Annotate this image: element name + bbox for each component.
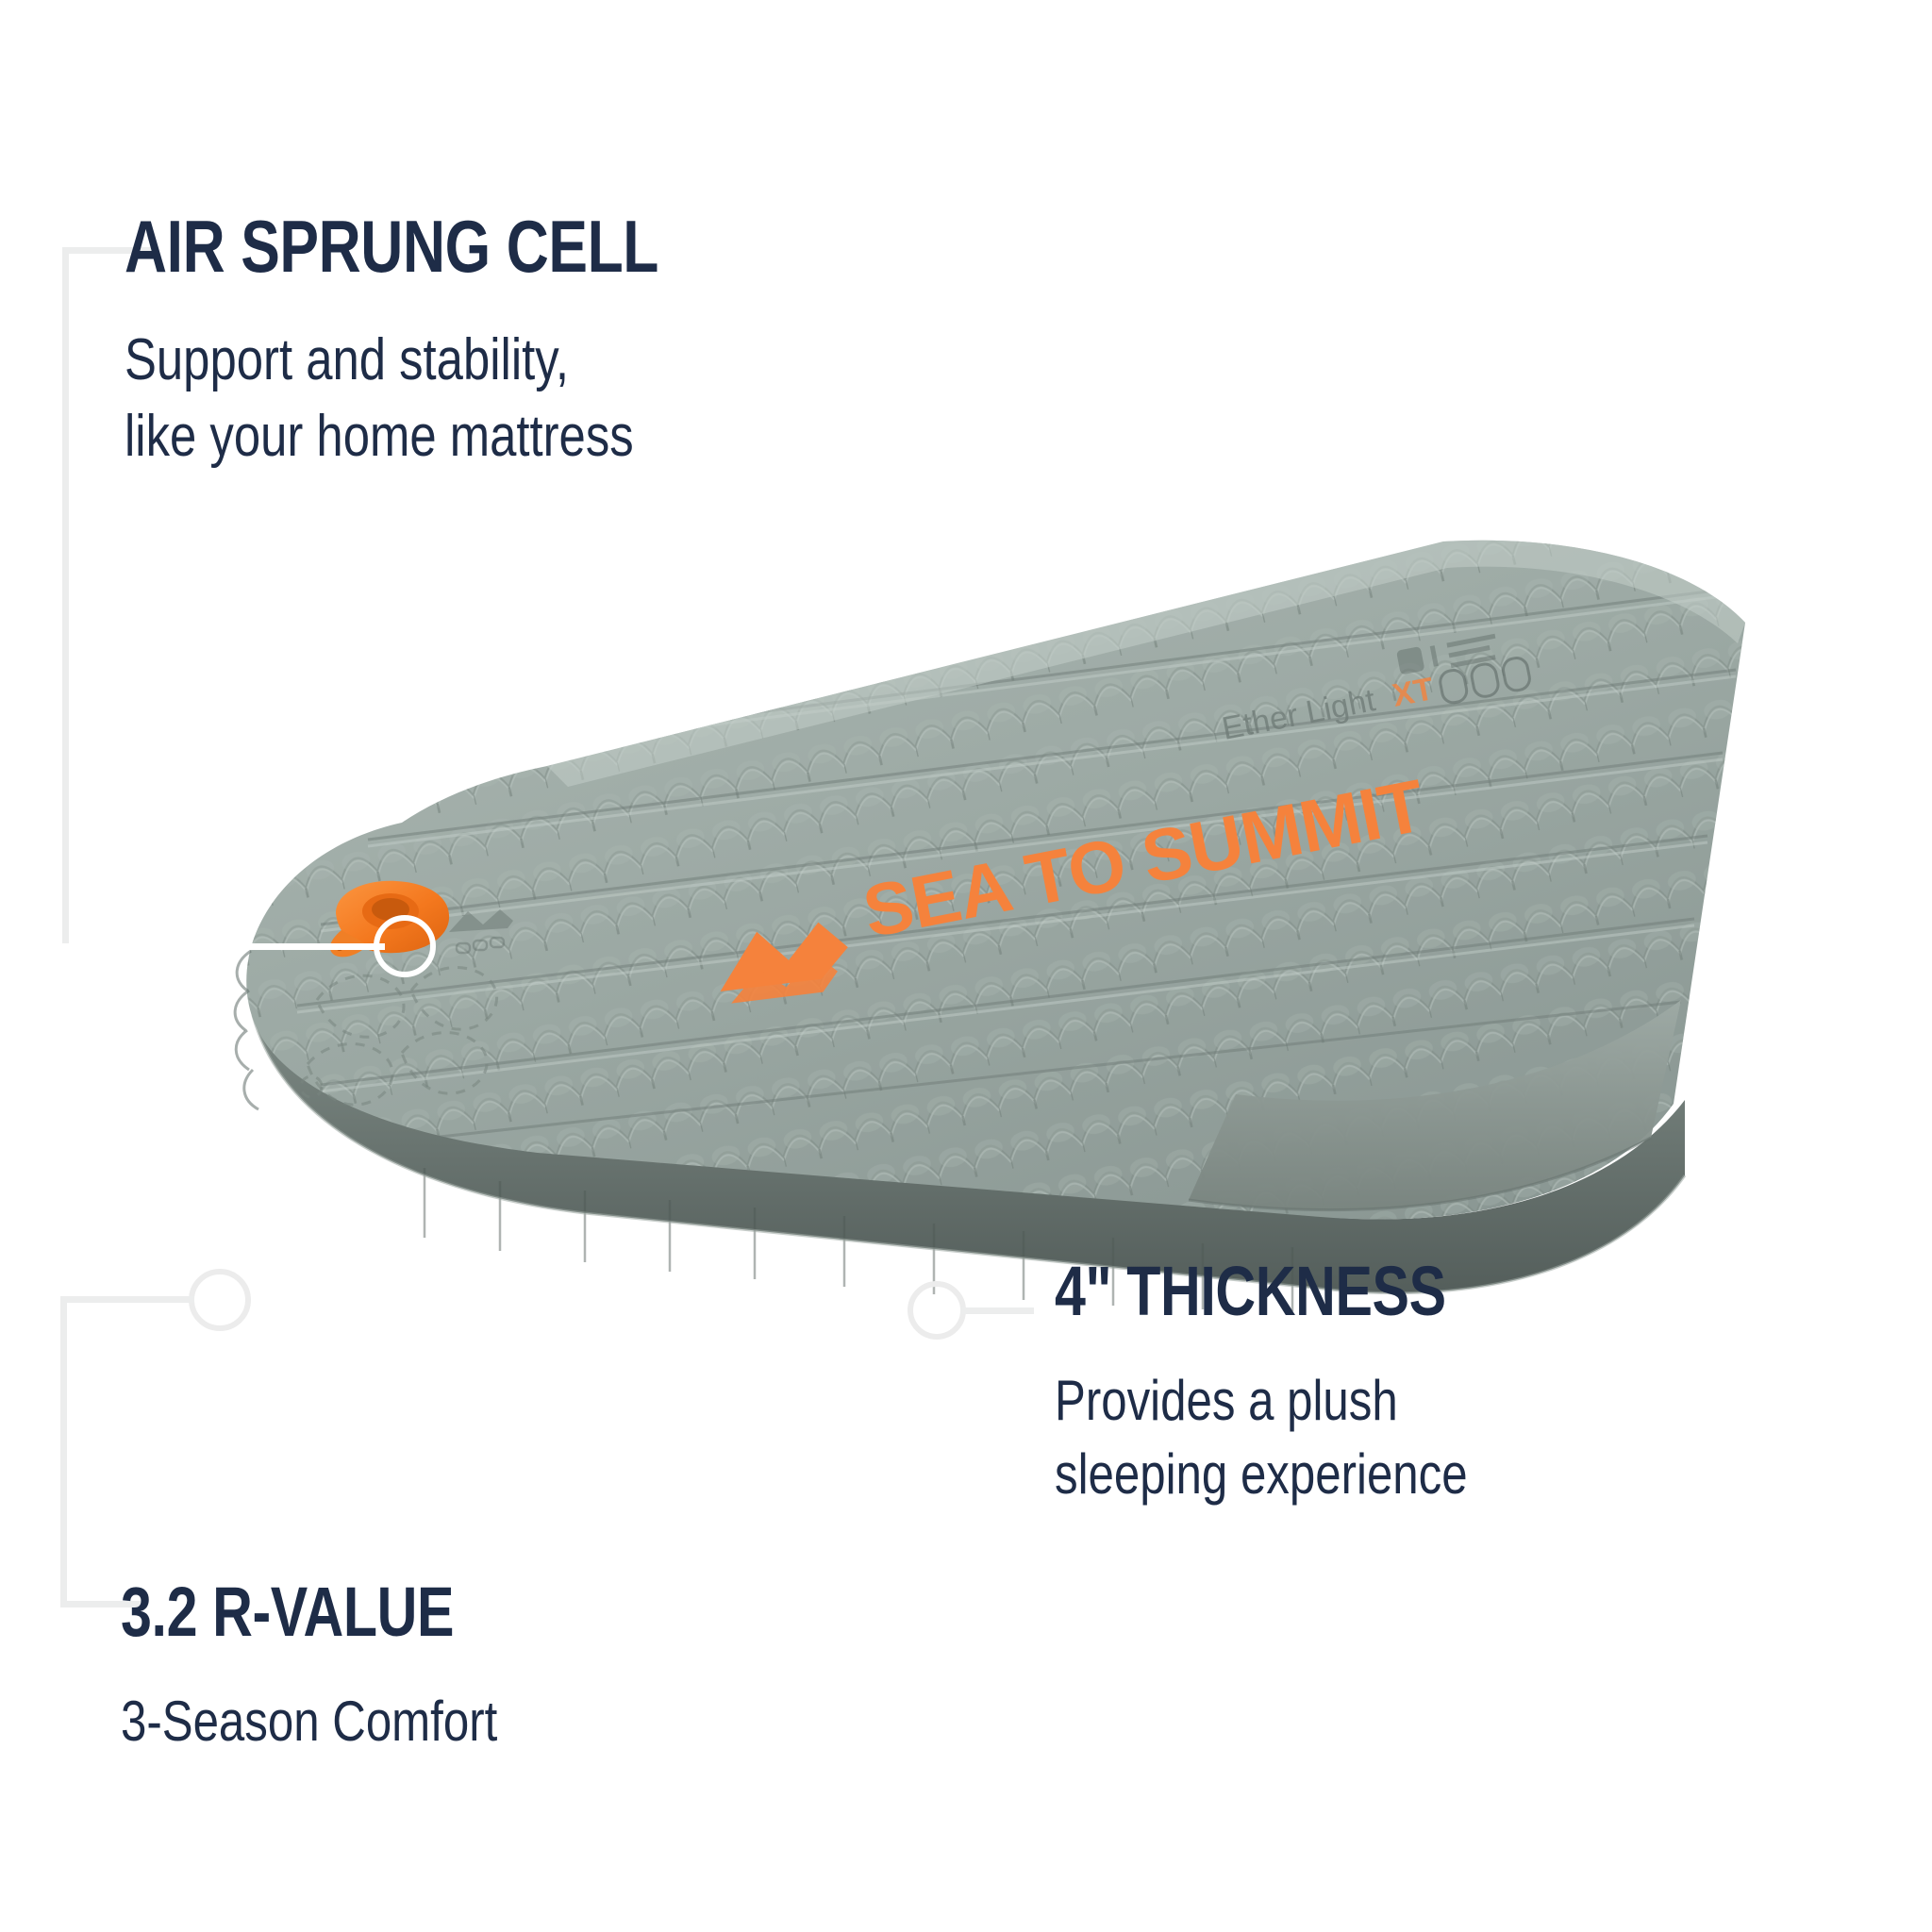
callout-air-sprung-cell: AIR SPRUNG CELL Support and stability, l… <box>125 209 792 475</box>
callout-title: 4" THICKNESS <box>1055 1257 1457 1326</box>
leader-segment-vertical <box>60 1296 67 1607</box>
leader-segment-vertical <box>62 247 69 950</box>
callout-description: Support and stability, like your home ma… <box>125 323 672 475</box>
infographic-canvas: SEA TO SUMMIT Ether Light XT <box>0 0 1932 1932</box>
callout-description: Provides a plush sleeping experience <box>1055 1364 1468 1511</box>
callout-title: 3.2 R-VALUE <box>121 1577 489 1647</box>
callout-thickness: 4" THICKNESS Provides a plush sleeping e… <box>1055 1257 1558 1511</box>
callout-r-value: 3.2 R-VALUE 3-Season Comfort <box>121 1577 580 1758</box>
callout-description: 3-Season Comfort <box>121 1685 497 1758</box>
callout-title: AIR SPRUNG CELL <box>125 209 658 283</box>
product-image-sleeping-mat: SEA TO SUMMIT Ether Light XT <box>142 340 1802 1396</box>
